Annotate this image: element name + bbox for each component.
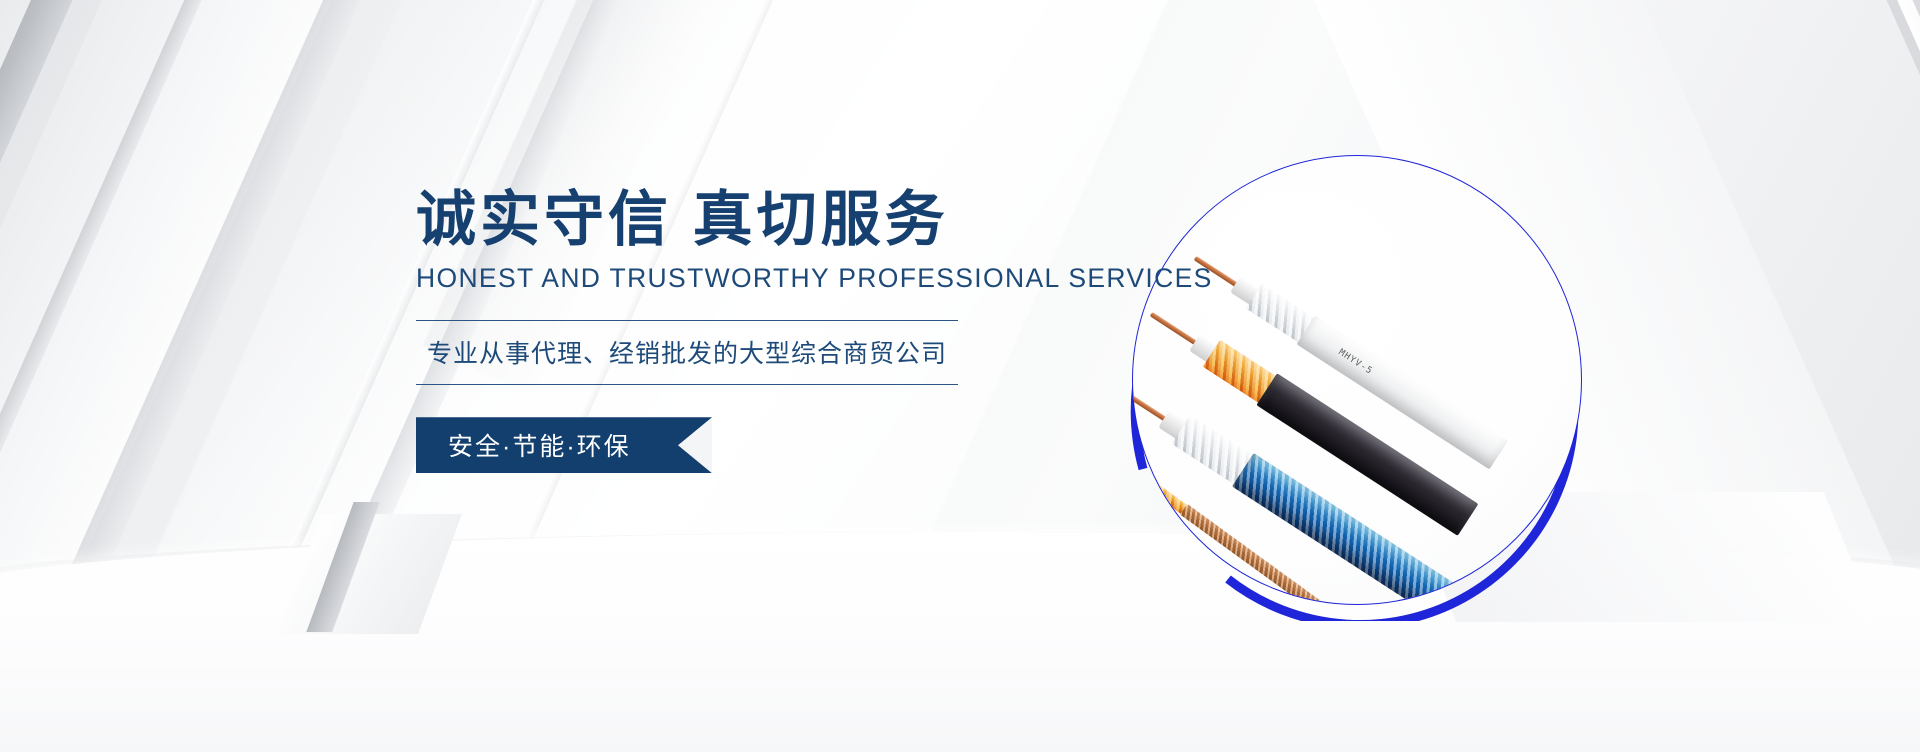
product-medallion: MHYV-5 <box>1132 155 1582 605</box>
hero-banner: 诚实守信 真切服务 HONEST AND TRUSTWORTHY PROFESS… <box>0 0 1920 752</box>
banner-subheadline: HONEST AND TRUSTWORTHY PROFESSIONAL SERV… <box>416 263 976 294</box>
banner-tagline-ribbon: 安全·节能·环保 <box>416 417 712 473</box>
banner-tagline-label: 安全·节能·环保 <box>416 427 631 463</box>
banner-copy: 诚实守信 真切服务 HONEST AND TRUSTWORTHY PROFESS… <box>416 186 976 473</box>
banner-description-rules: 专业从事代理、经销批发的大型综合商贸公司 <box>416 320 958 385</box>
banner-description: 专业从事代理、经销批发的大型综合商贸公司 <box>416 334 958 370</box>
product-photo-disc: MHYV-5 <box>1132 155 1582 605</box>
coaxial-cables-photo: MHYV-5 <box>1133 156 1581 604</box>
banner-headline: 诚实守信 真切服务 <box>416 186 976 253</box>
